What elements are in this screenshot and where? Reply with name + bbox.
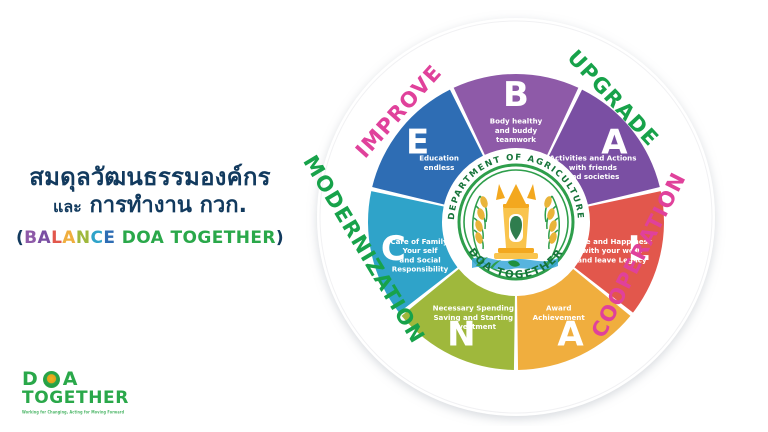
doa-together-label: DOA TOGETHER [115, 228, 275, 248]
logo-tagline: Working for Changing, Acting for Moving … [22, 410, 127, 415]
logo-letter-d: D [22, 370, 40, 389]
balance-wheel-diagram: BBody healthyand buddyteamworkAActivitie… [300, 8, 732, 426]
balance-letter-6: E [103, 228, 115, 248]
logo-doa-row: D A [22, 370, 127, 389]
headline-line-2-prefix: และ [53, 197, 82, 216]
wheel-svg: BBody healthyand buddyteamworkAActivitie… [300, 8, 732, 426]
balance-letter-5: C [91, 228, 104, 248]
doa-together-logo: D A TOGETHER Working for Changing, Actin… [22, 370, 127, 414]
headline-subtitle: (BALANCE DOA TOGETHER) [0, 228, 300, 248]
left-text-panel: สมดุลวัฒนธรรมองค์กร และ การทำงาน กวก. (B… [0, 0, 300, 432]
headline-line-2: และ การทำงาน กวก. [0, 192, 300, 221]
balance-letter-2: L [51, 228, 62, 248]
segment-letter-0: B [503, 75, 529, 115]
headline-line-2-main: การทำงาน กวก. [89, 193, 247, 218]
segment-desc-0: Body healthyand buddyteamwork [490, 117, 543, 144]
balance-letter-1: A [38, 228, 52, 248]
headline-line-1: สมดุลวัฒนธรรมองค์กร [0, 163, 300, 192]
segment-desc-6: Educationendless [419, 154, 459, 172]
logo-together-row: TOGETHER [22, 390, 127, 408]
balance-letter-3: A [62, 228, 76, 248]
balance-letter-4: N [76, 228, 91, 248]
balance-acronym: BALANCE [24, 228, 115, 248]
center-emblem: DEPARTMENT OF AGRICULTURE DOA TOGETHER [444, 150, 588, 294]
balance-letter-0: B [24, 228, 37, 248]
logo-letter-a: A [63, 370, 80, 389]
paren-close: ) [276, 228, 284, 248]
paren-open: ( [16, 228, 24, 248]
seal-icon [43, 371, 60, 388]
page-title: สมดุลวัฒนธรรมองค์กร และ การทำงาน กวก. (B… [0, 163, 300, 248]
